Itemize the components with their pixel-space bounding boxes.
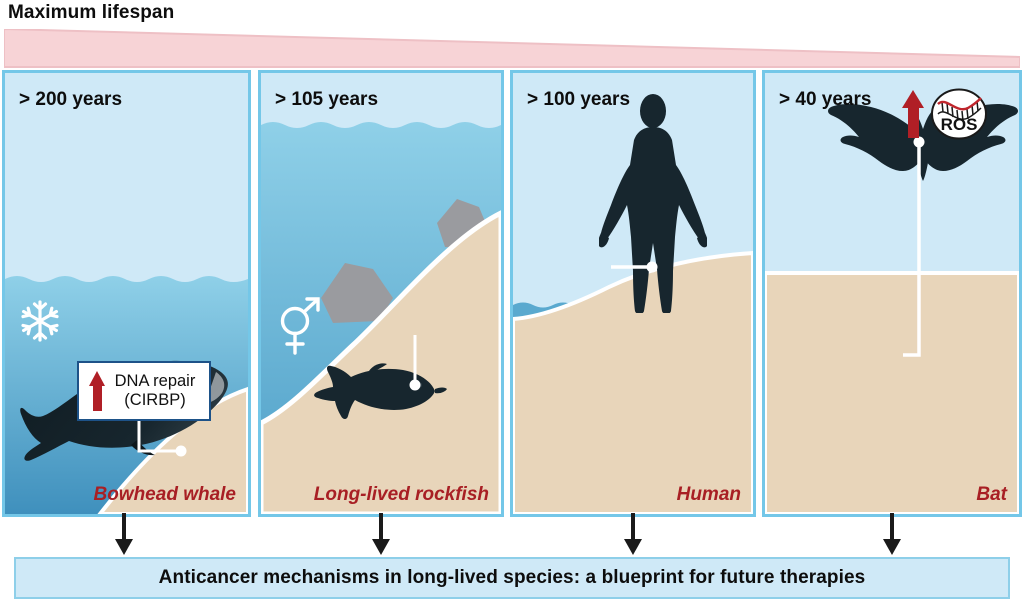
arrow-down-1 (115, 513, 133, 555)
male-female-symbol-icon (273, 295, 325, 357)
up-arrow-red-icon (89, 371, 106, 411)
species-label-bowhead-whale: Bowhead whale (93, 484, 236, 506)
up-arrow-red-ros-icon (902, 90, 924, 138)
arrow-down-4 (883, 513, 901, 555)
species-panel-row: > 200 years DNA repair (CIRBP) Bowhead w… (0, 70, 1024, 517)
lifespan-value-2: > 105 years (275, 89, 378, 111)
ros-dna-badge-icon: ROS (930, 88, 988, 140)
species-label-human: Human (677, 484, 741, 506)
scene-ocean-floor (261, 73, 501, 514)
panel-to-banner-arrows (0, 513, 1024, 558)
callout-dna-repair-cirbp[interactable]: DNA repair (CIRBP) (77, 361, 211, 421)
leader-line-human (611, 259, 661, 275)
summary-banner-text: Anticancer mechanisms in long-lived spec… (159, 567, 866, 589)
lifespan-gradient-taper (4, 29, 1020, 69)
leader-line-whale (135, 417, 195, 461)
panel-long-lived-rockfish[interactable]: > 105 years Positive selection of DNA re… (258, 70, 504, 517)
lifespan-value-1: > 200 years (19, 89, 122, 111)
leader-line-fish (407, 335, 429, 393)
summary-banner[interactable]: Anticancer mechanisms in long-lived spec… (14, 557, 1010, 599)
lifespan-value-4: > 40 years (779, 89, 871, 111)
leader-line-bat (903, 133, 935, 371)
panel-bowhead-whale[interactable]: > 200 years DNA repair (CIRBP) Bowhead w… (2, 70, 251, 517)
svg-text:ROS: ROS (941, 115, 978, 134)
lifespan-value-3: > 100 years (527, 89, 630, 111)
arrow-down-3 (624, 513, 642, 555)
species-label-rockfish: Long-lived rockfish (314, 484, 489, 506)
snowflake-icon (17, 298, 63, 344)
species-label-bat: Bat (976, 484, 1007, 506)
page-title: Maximum lifespan (8, 2, 174, 24)
callout-text-1: DNA repair (CIRBP) (111, 370, 200, 413)
human-silhouette (599, 93, 707, 313)
panel-human[interactable]: > 100 years ? Human (510, 70, 756, 517)
arrow-down-2 (372, 513, 390, 555)
